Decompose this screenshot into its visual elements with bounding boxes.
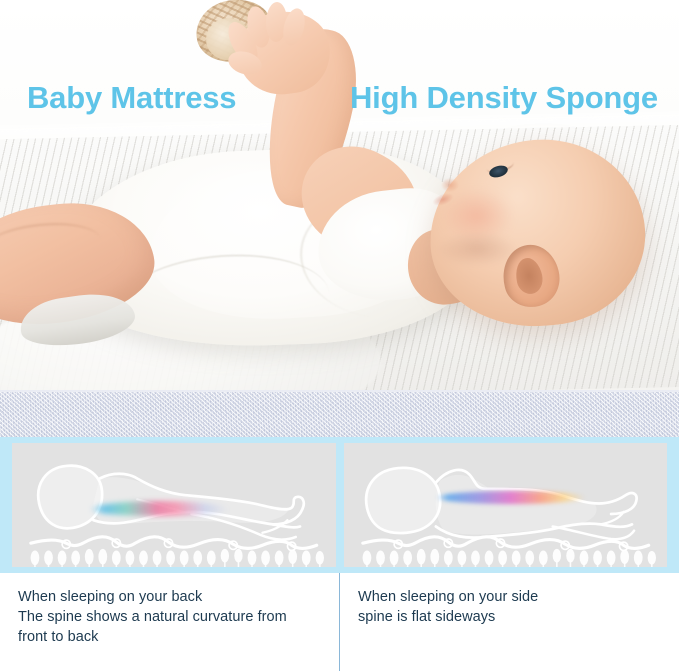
caption-line: The spine shows a natural curvature from: [18, 607, 325, 627]
product-infographic: Baby Mattress High Density Sponge: [0, 0, 679, 671]
caption-sleeping-on-side: When sleeping on your side spine is flat…: [339, 573, 679, 671]
figure-baby-prone: [344, 443, 667, 567]
baby-nose: [441, 178, 459, 192]
caption-line: spine is flat sideways: [358, 607, 665, 627]
caption-line: front to back: [18, 627, 325, 647]
high-density-sponge-band: [0, 392, 679, 437]
coil-springs: [362, 549, 655, 565]
headline-high-density-sponge: High Density Sponge: [350, 80, 658, 116]
caption-line: When sleeping on your side: [358, 587, 665, 607]
caption-line: When sleeping on your back: [18, 587, 325, 607]
caption-row: When sleeping on your back The spine sho…: [0, 573, 679, 671]
hero-photo: [0, 0, 679, 390]
panel-sleeping-on-side: [344, 443, 668, 567]
spine-curve-highlight: [90, 501, 231, 516]
panel-sleeping-on-back: [12, 443, 336, 567]
headline-baby-mattress: Baby Mattress: [27, 80, 236, 116]
diagram-panel-row: [0, 437, 679, 573]
coil-springs: [31, 549, 324, 565]
caption-sleeping-on-back: When sleeping on your back The spine sho…: [0, 573, 339, 671]
baby-chin-shadow: [438, 232, 516, 266]
spine-straight-highlight: [436, 491, 586, 504]
